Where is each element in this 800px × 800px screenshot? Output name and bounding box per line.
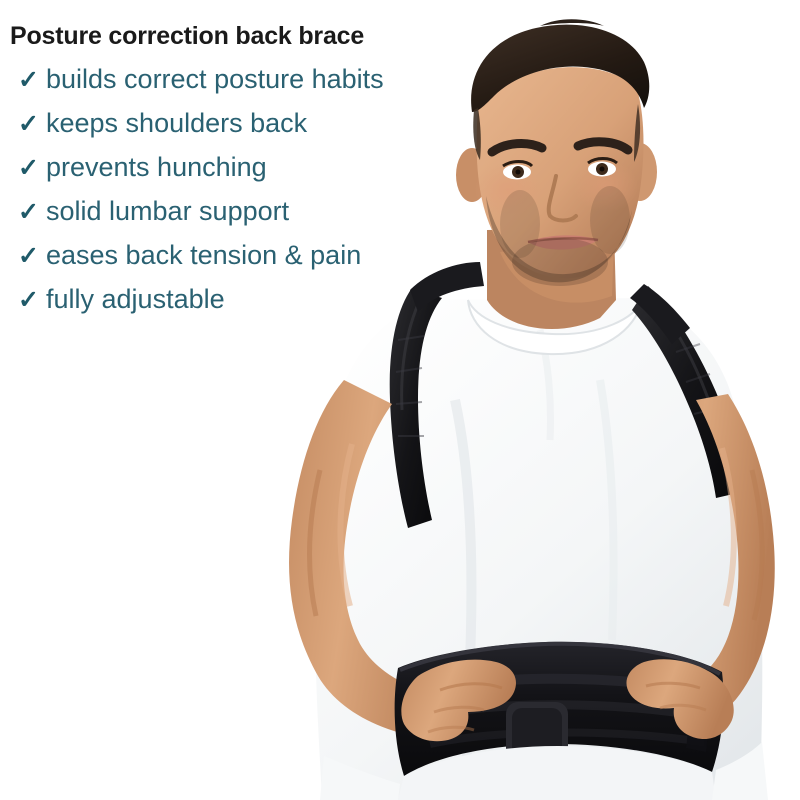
product-image-canvas: Posture correction back brace ✓ builds c… [0,0,800,800]
check-icon: ✓ [18,68,46,93]
benefit-label: keeps shoulders back [46,110,307,137]
check-icon: ✓ [18,244,46,269]
check-icon: ✓ [18,288,46,313]
benefit-label: eases back tension & pain [46,242,361,269]
benefit-label: builds correct posture habits [46,66,384,93]
check-icon: ✓ [18,156,46,181]
list-item: ✓ builds correct posture habits [18,66,384,110]
benefit-label: solid lumbar support [46,198,289,225]
list-item: ✓ keeps shoulders back [18,110,384,154]
benefit-label: prevents hunching [46,154,267,181]
list-item: ✓ eases back tension & pain [18,242,384,286]
list-item: ✓ prevents hunching [18,154,384,198]
check-icon: ✓ [18,200,46,225]
benefit-label: fully adjustable [46,286,225,313]
benefits-list: ✓ builds correct posture habits ✓ keeps … [18,66,384,330]
check-icon: ✓ [18,112,46,137]
list-item: ✓ solid lumbar support [18,198,384,242]
page-title: Posture correction back brace [10,22,364,51]
list-item: ✓ fully adjustable [18,286,384,330]
